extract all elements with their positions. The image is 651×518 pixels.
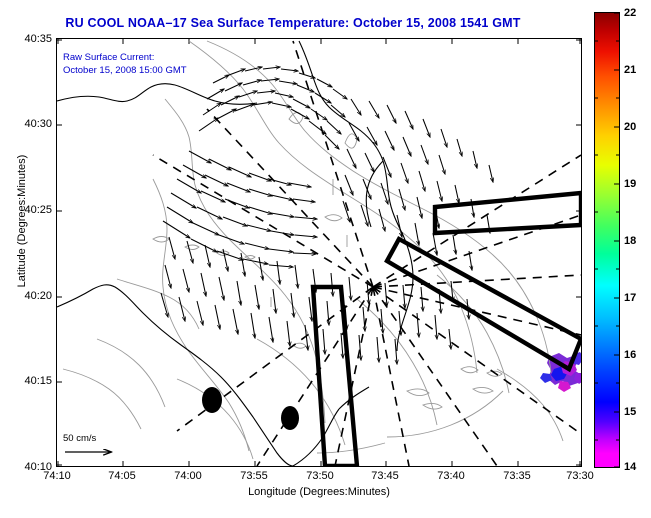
colorbar-tick-label: 16 xyxy=(624,349,636,361)
y-tick-label: 40:35 xyxy=(4,33,52,45)
colorbar-tick-label: 22 xyxy=(624,7,636,19)
annotation-line-2: October 15, 2008 15:00 GMT xyxy=(63,64,187,77)
y-tick-label: 40:20 xyxy=(4,290,52,302)
survey-corridors xyxy=(313,193,581,466)
x-tick-label: 73:55 xyxy=(240,470,268,482)
figure-title: RU COOL NOAA–17 Sea Surface Temperature:… xyxy=(0,16,586,30)
colorbar-tick-label: 21 xyxy=(624,64,636,76)
surface-current-vectors xyxy=(161,67,493,364)
right-arrow-icon xyxy=(63,444,125,460)
colorbar-ticks xyxy=(594,12,620,468)
x-tick-label: 74:05 xyxy=(108,470,136,482)
y-tick-label: 40:15 xyxy=(4,375,52,387)
vector-scale-key: 50 cm/s xyxy=(63,433,125,465)
y-tick-label: 40:30 xyxy=(4,118,52,130)
x-tick-label: 73:35 xyxy=(503,470,531,482)
x-tick-label: 73:40 xyxy=(437,470,465,482)
vector-scale-label: 50 cm/s xyxy=(63,433,125,444)
station-markers[interactable] xyxy=(202,387,299,430)
colorbar-tick-label: 17 xyxy=(624,292,636,304)
figure-canvas: RU COOL NOAA–17 Sea Surface Temperature:… xyxy=(0,0,651,518)
x-tick-label: 73:30 xyxy=(566,470,594,482)
colorbar-tick-label: 20 xyxy=(624,121,636,133)
map-plot-area[interactable]: Raw Surface Current: October 15, 2008 15… xyxy=(56,38,582,467)
colorbar-tick-label: 14 xyxy=(624,461,636,473)
x-axis-title: Longitude (Degrees:Minutes) xyxy=(56,486,582,498)
colorbar-tick-label: 18 xyxy=(624,235,636,247)
station-marker-2 xyxy=(281,406,299,430)
raw-current-annotation: Raw Surface Current: October 15, 2008 15… xyxy=(63,51,187,77)
colorbar-tick-label: 15 xyxy=(624,406,636,418)
annotation-line-1: Raw Surface Current: xyxy=(63,51,187,64)
x-tick-label: 73:50 xyxy=(306,470,334,482)
x-tick-label: 74:00 xyxy=(174,470,202,482)
y-axis-title: Latitude (Degrees:Minutes) xyxy=(16,111,28,331)
y-tick-label: 40:25 xyxy=(4,204,52,216)
x-tick-label: 73:45 xyxy=(371,470,399,482)
map-graphics xyxy=(57,39,581,466)
colorbar-tick-label: 19 xyxy=(624,178,636,190)
station-marker-1 xyxy=(202,387,222,413)
coastline xyxy=(57,41,413,466)
x-tick-label: 74:10 xyxy=(43,470,71,482)
